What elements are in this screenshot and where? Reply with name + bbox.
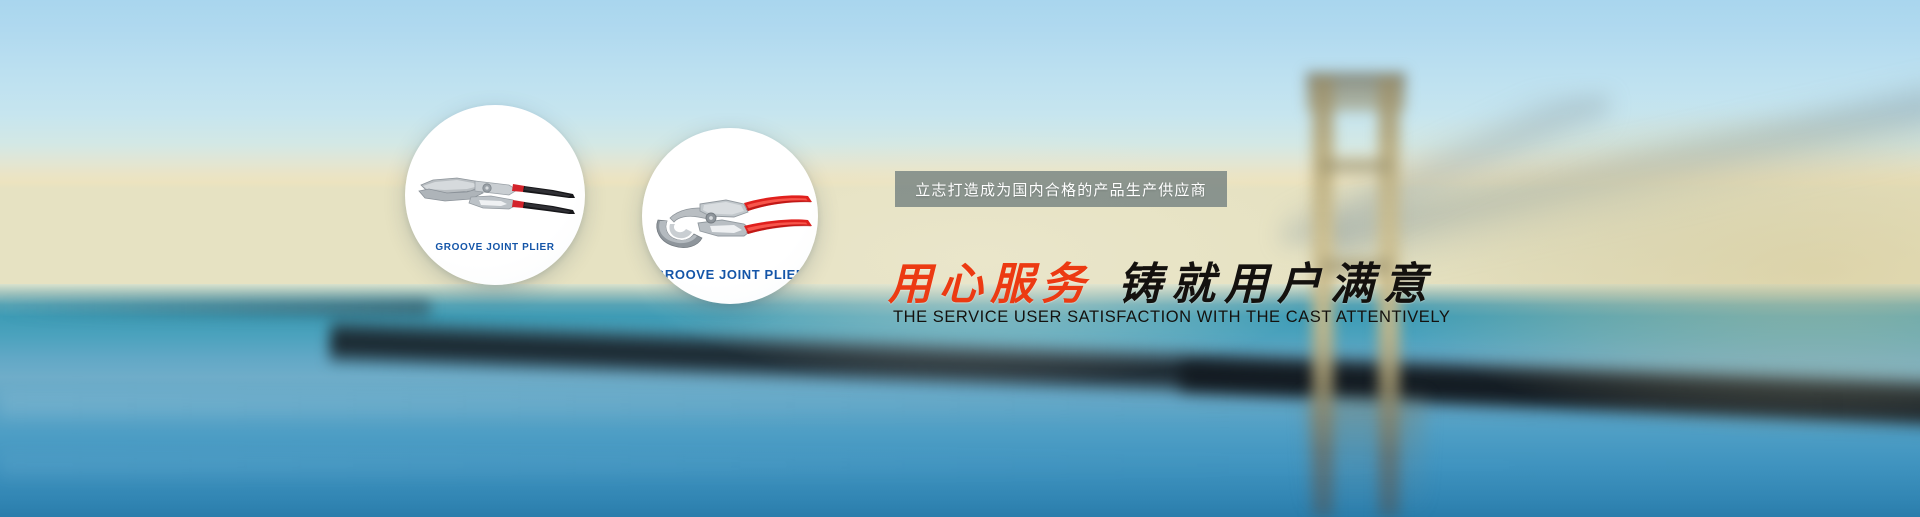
bridge-deck-far [0,300,430,316]
product-circle-1[interactable]: GROOVE JOINT PLIER [405,105,585,285]
headline-primary: 用心服务 [888,248,1092,312]
product-label-1: GROOVE JOINT PLIER [435,242,554,253]
groove-joint-plier-red-handle-icon [648,176,816,254]
subheadline: THE SERVICE USER SATISFACTION WITH THE C… [893,308,1450,327]
headline-secondary: 铸就用户满意 [1118,248,1436,312]
groove-joint-plier-black-handle-icon [413,167,578,225]
tagline-text: 立志打造成为国内合格的产品生产供应商 [915,179,1207,200]
tagline-bar: 立志打造成为国内合格的产品生产供应商 [895,171,1227,207]
product-circle-2[interactable]: GROOVE JOINT PLIER [642,128,818,304]
headline: 用心服务 铸就用户满意 [888,248,1436,312]
product-label-2: GROOVE JOINT PLIER [654,267,806,282]
hero-banner: GROOVE JOINT PLIER [0,0,1920,517]
